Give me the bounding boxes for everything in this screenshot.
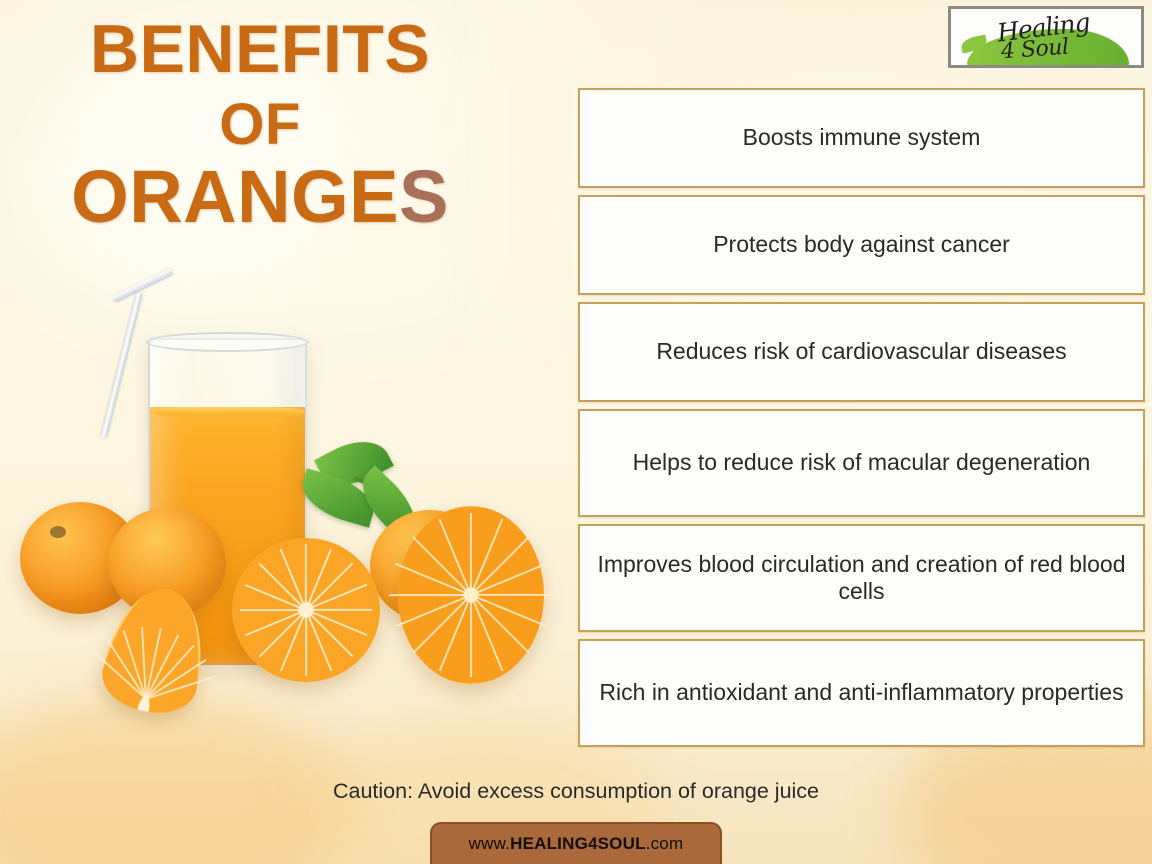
footer-url-prefix: www. <box>469 834 510 854</box>
page-title: BENEFITS OF ORANGES <box>0 14 520 236</box>
citrus-segment-line <box>306 609 372 611</box>
citrus-segment-line <box>412 594 471 653</box>
citrus-segment-line <box>470 594 529 653</box>
citrus-segment-line <box>470 595 472 677</box>
footer-url-suffix: .com <box>646 834 684 854</box>
citrus-segment-line <box>412 536 471 595</box>
logo-word-foursoul: 4 Soul <box>1000 35 1069 65</box>
citrus-segment-line <box>259 563 307 611</box>
title-oranges-prefix: ORANGE <box>71 155 399 238</box>
glass-rim <box>146 332 309 352</box>
caution-note: Caution: Avoid excess consumption of ora… <box>0 779 1152 804</box>
footer-url-brand: HEALING4SOUL <box>510 834 646 854</box>
citrus-segment-line <box>470 536 529 595</box>
benefit-item[interactable]: Rich in antioxidant and anti-inflammator… <box>578 639 1145 747</box>
citrus-segment-line <box>305 544 307 610</box>
straw-bend-icon <box>112 268 174 303</box>
straw-icon <box>100 291 143 438</box>
orange-half-front <box>232 538 380 682</box>
website-footer-badge[interactable]: www.HEALING4SOUL.com <box>430 822 722 864</box>
citrus-segment-line <box>240 609 306 611</box>
benefit-item[interactable]: Improves blood circulation and creation … <box>578 524 1145 632</box>
orange-juice-photo <box>0 270 575 730</box>
title-line-oranges: ORANGES <box>0 159 520 236</box>
benefit-item[interactable]: Helps to reduce risk of macular degenera… <box>578 409 1145 517</box>
citrus-segment-line <box>305 610 307 676</box>
title-oranges-accent-letter: S <box>399 155 449 238</box>
benefits-list: Boosts immune system Protects body again… <box>578 88 1145 754</box>
brand-logo[interactable]: Healing 4 Soul <box>948 6 1144 68</box>
citrus-segment-line <box>305 563 353 611</box>
citrus-segment-line <box>470 513 472 595</box>
title-line-benefits: BENEFITS <box>0 14 520 85</box>
citrus-segment-line <box>389 594 471 596</box>
citrus-segment-line <box>305 609 353 657</box>
benefit-item[interactable]: Protects body against cancer <box>578 195 1145 295</box>
orange-half-standing <box>398 506 544 684</box>
infographic-poster: BENEFITS OF ORANGES Healing 4 Soul Boost… <box>0 0 1152 864</box>
citrus-segment-line <box>471 594 553 596</box>
benefit-item[interactable]: Reduces risk of cardiovascular diseases <box>578 302 1145 402</box>
benefit-item[interactable]: Boosts immune system <box>578 88 1145 188</box>
title-line-of: OF <box>0 95 520 155</box>
citrus-segment-line <box>259 609 307 657</box>
